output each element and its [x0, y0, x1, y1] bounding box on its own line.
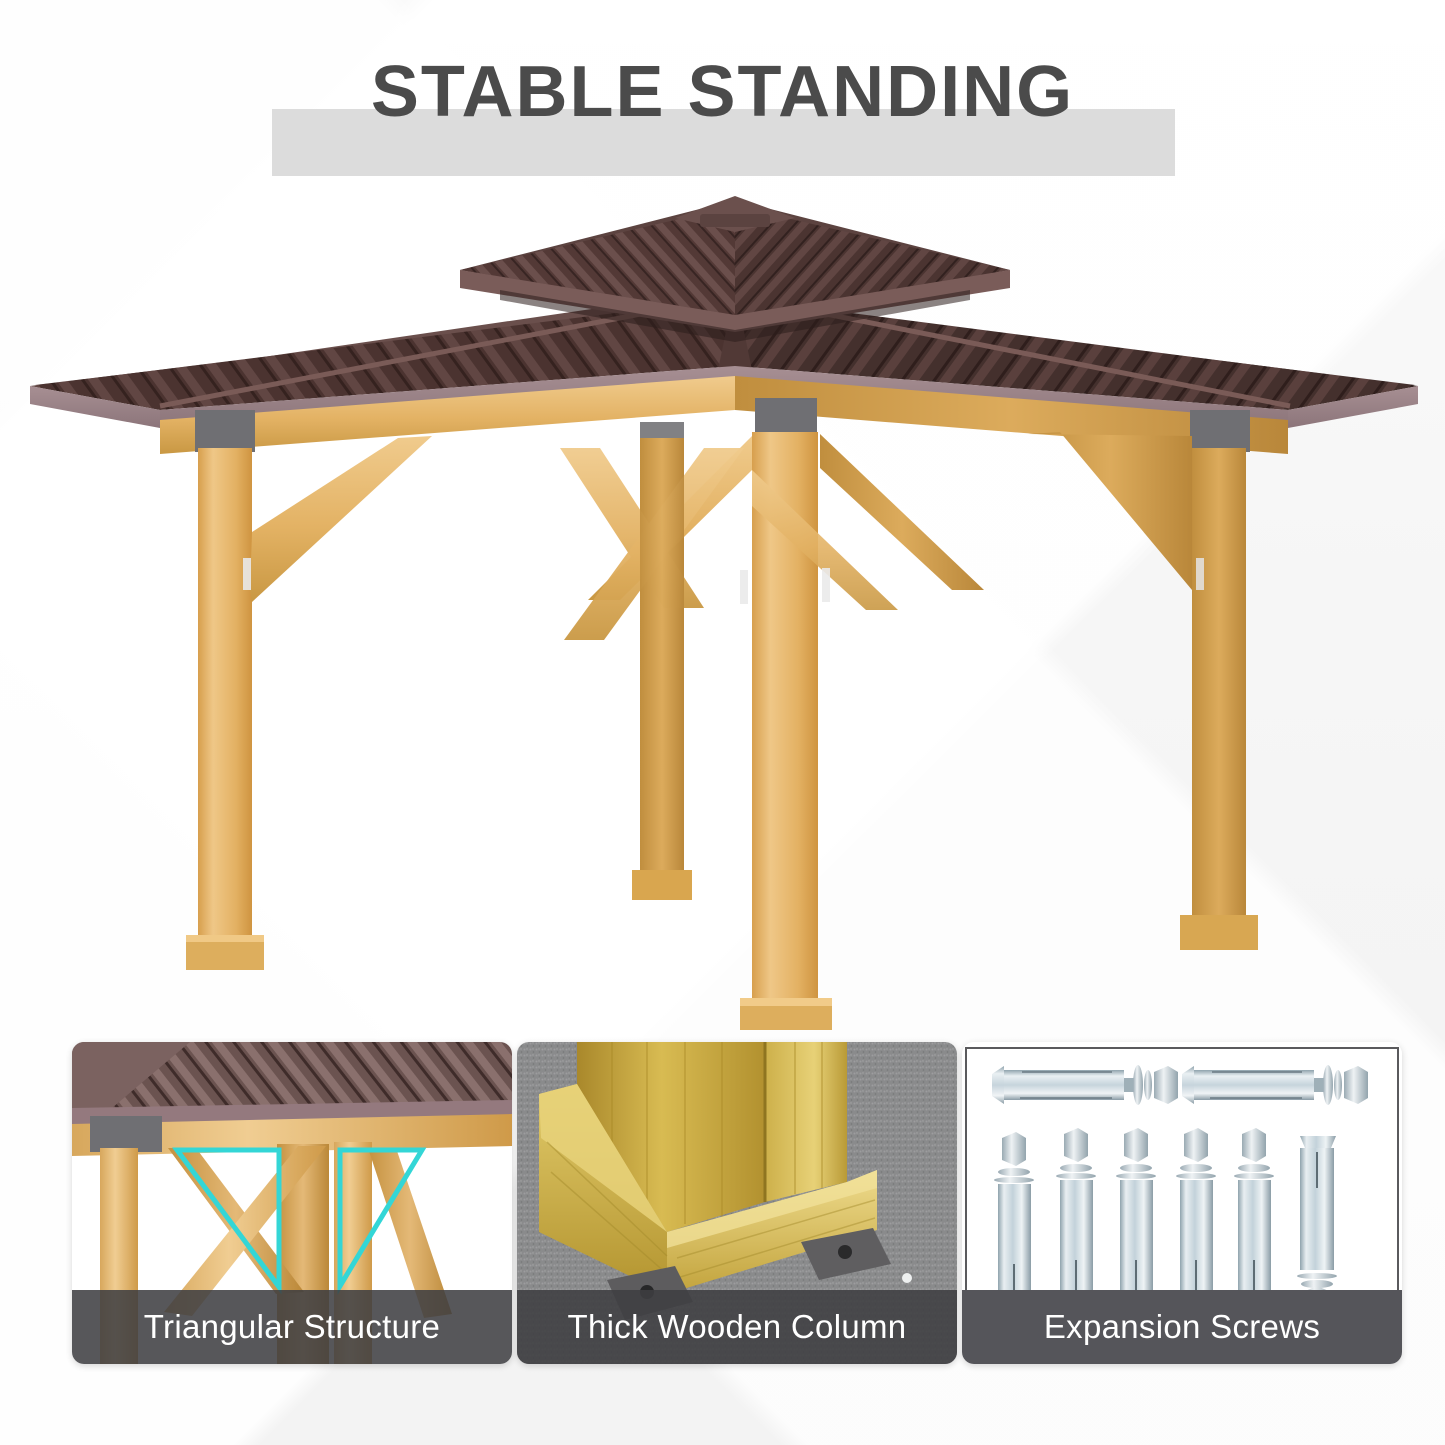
brace-plate	[822, 568, 830, 602]
post-base-cap	[632, 870, 692, 900]
panel-caption: Triangular Structure	[72, 1290, 512, 1364]
post-cap-bracket	[90, 1116, 162, 1152]
feature-panels: Triangular Structure	[0, 1042, 1445, 1402]
hero-gazebo-illustration	[0, 170, 1445, 1030]
panel-caption: Expansion Screws	[962, 1290, 1402, 1364]
triangular-structure-panel[interactable]: Triangular Structure	[72, 1042, 512, 1364]
corner-brace	[1028, 432, 1192, 590]
gazebo-post	[1192, 448, 1246, 915]
panel-caption: Thick Wooden Column	[517, 1290, 957, 1364]
gazebo-wood-frame	[160, 376, 1288, 1030]
thick-wooden-column-panel[interactable]: Thick Wooden Column	[517, 1042, 957, 1364]
brace-plate	[243, 558, 251, 590]
post-cap-bracket	[195, 410, 255, 452]
post-base-cap	[1180, 915, 1258, 950]
gazebo-post	[198, 448, 252, 935]
page-title: STABLE STANDING	[0, 56, 1445, 128]
corner-brace	[250, 436, 432, 602]
post-cap-bracket	[1190, 410, 1250, 452]
brace-plate	[740, 570, 748, 604]
column-right-face	[765, 1042, 847, 1202]
expansion-screws-panel[interactable]: Expansion Screws	[962, 1042, 1402, 1364]
brace-plate	[1196, 558, 1204, 590]
